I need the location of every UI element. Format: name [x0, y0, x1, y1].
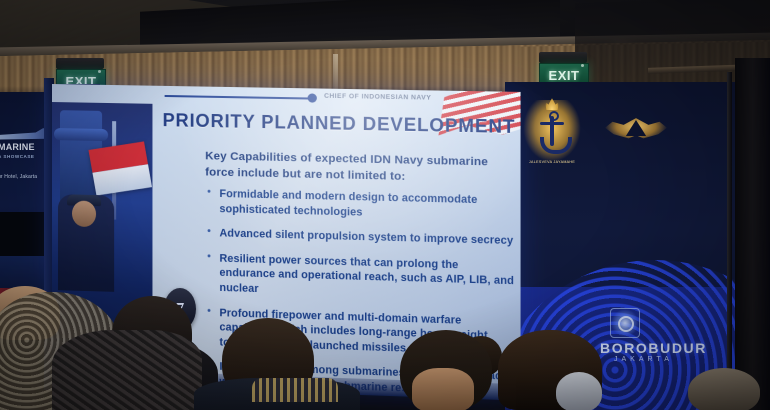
- navy-crest-motto: JALESVEVA JAYAMAHE: [529, 160, 575, 164]
- dolphins-badge-icon: [597, 98, 675, 160]
- indonesian-flag: [88, 141, 152, 195]
- exit-sign-indicator: [581, 64, 584, 67]
- conference-room-photo: EXIT EXIT JALESVEVA JAYAMAHE: [0, 0, 770, 410]
- audience-member-face: [412, 368, 474, 410]
- borobudur-city: JAKARTA: [614, 356, 673, 363]
- photo-officer-figure: [58, 194, 114, 292]
- slide-bullet-item: Resilient power sources that can prolong…: [205, 251, 516, 304]
- exit-sign-indicator: [98, 70, 101, 73]
- backdrop-support-pole: [727, 72, 732, 410]
- officer-face: [72, 200, 96, 227]
- exit-sign-label: EXIT: [549, 69, 580, 82]
- audience-member: [556, 372, 602, 410]
- backdrop-right-edge: [735, 58, 770, 410]
- slide-bullet-item: Advanced silent propulsion system to imp…: [205, 226, 516, 249]
- audience-member-collar: [252, 378, 338, 402]
- slide-header-rule: [165, 95, 314, 100]
- audience-member: [688, 368, 760, 410]
- crown-icon: [545, 98, 559, 110]
- exit-sign-mount: [539, 52, 587, 63]
- exit-sign-mount: [56, 58, 104, 69]
- slide-lead-text: Key Capabilities of expected IDN Navy su…: [205, 149, 512, 187]
- borobudur-name: BOROBUDUR: [600, 340, 707, 356]
- indonesian-navy-crest-emblem: JALESVEVA JAYAMAHE: [523, 100, 581, 162]
- slide-header-label: CHIEF OF INDONESIAN NAVY: [324, 93, 431, 102]
- borobudur-mark-icon: [610, 308, 640, 338]
- navy-crest-icon: JALESVEVA JAYAMAHE: [523, 100, 581, 162]
- submarine-sail-cap: [54, 128, 108, 141]
- submarine-dolphins-emblem: [597, 98, 675, 160]
- audience-member-coat: [52, 330, 202, 410]
- slide-header-dot-icon: [308, 93, 317, 102]
- anchor-icon: [545, 114, 559, 148]
- slide-bullet-item: Formidable and modern design to accommod…: [205, 187, 516, 224]
